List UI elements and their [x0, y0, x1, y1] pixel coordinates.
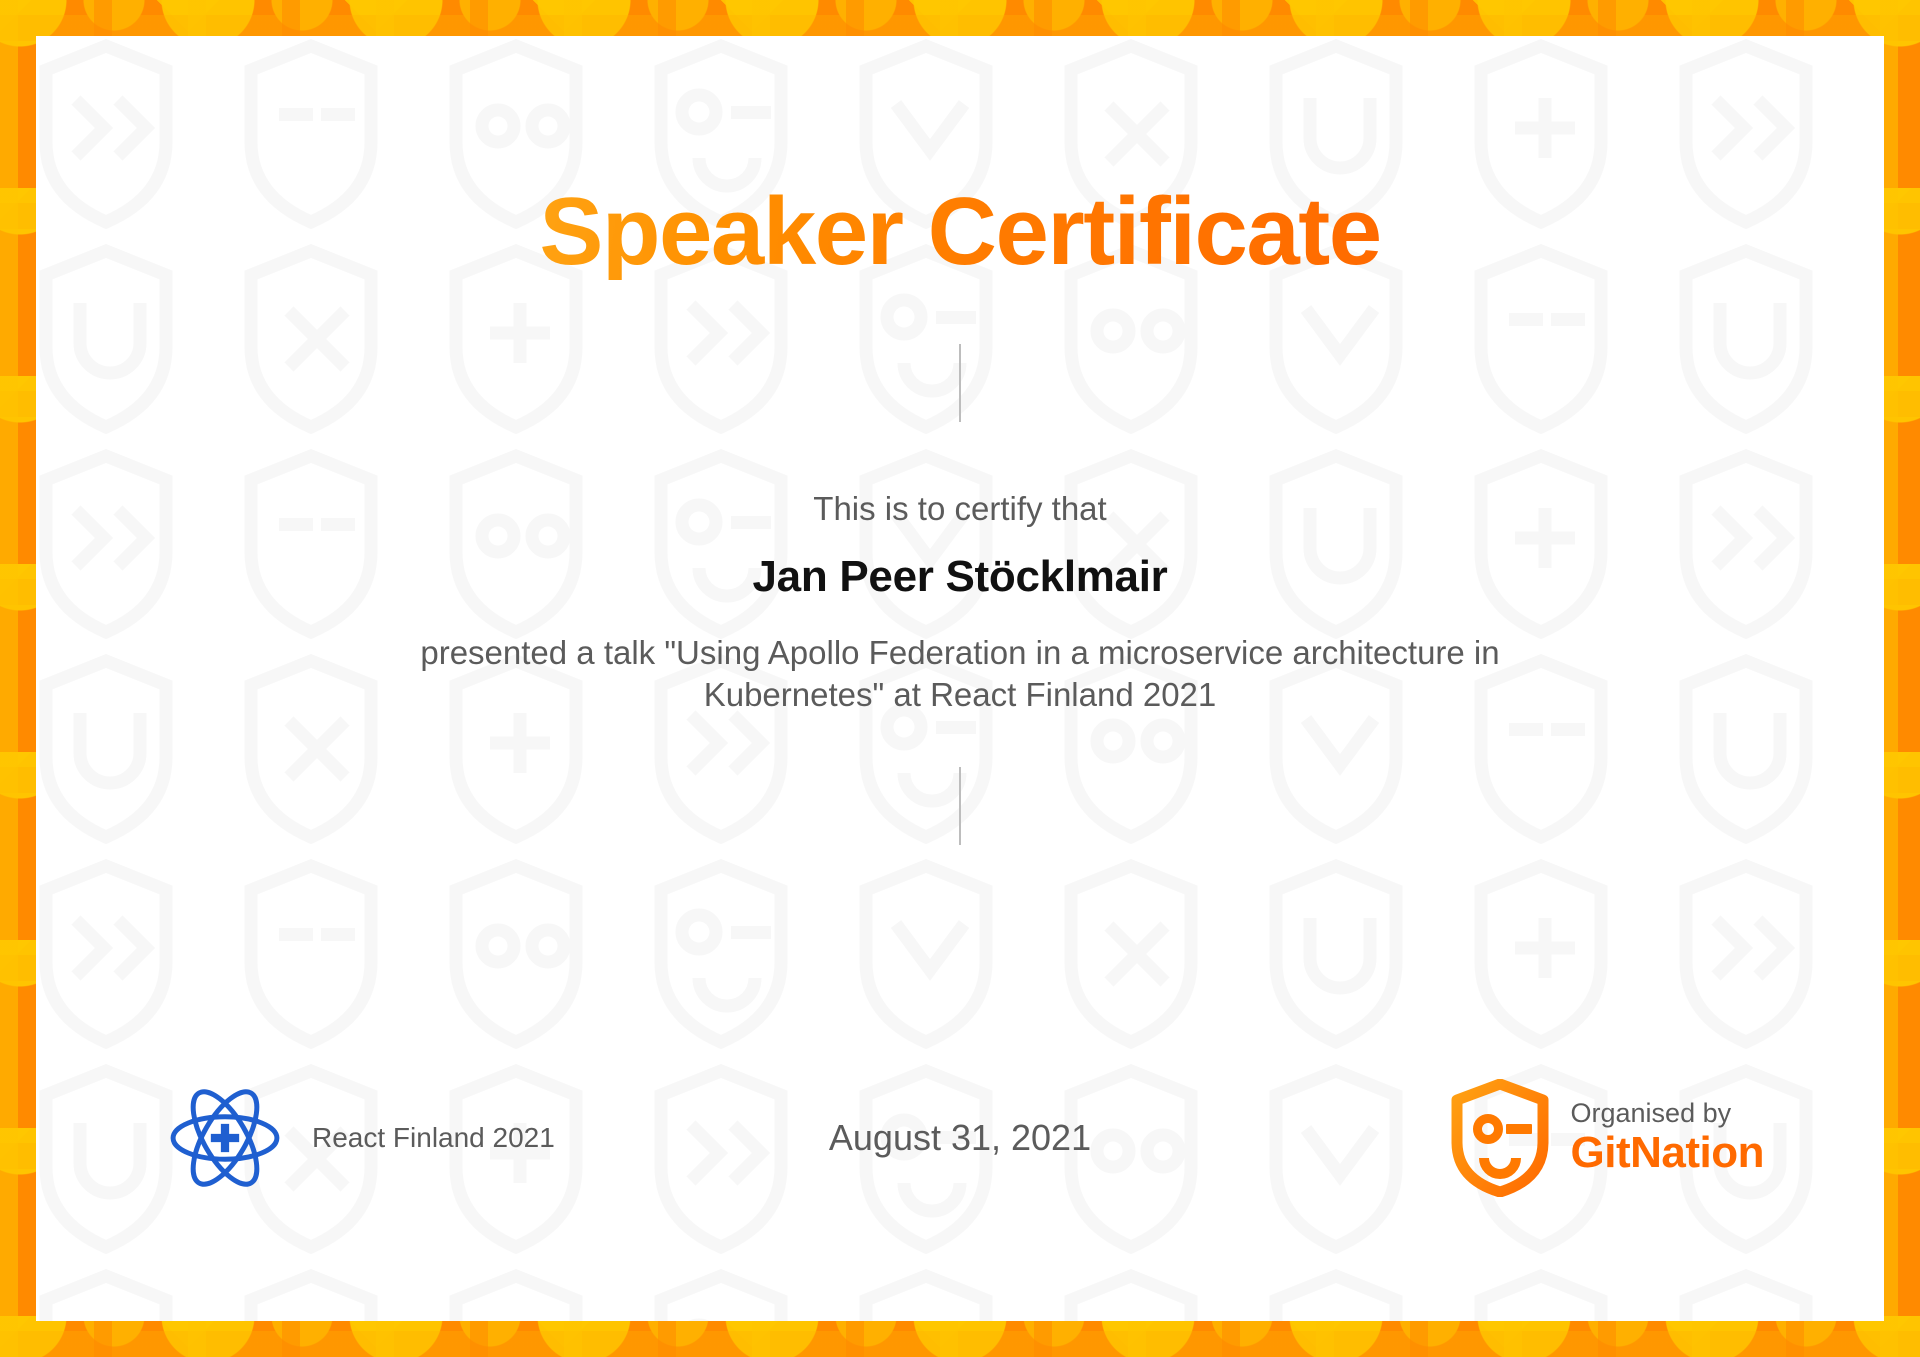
gitnation-shield-icon — [1451, 1079, 1549, 1197]
organised-by-label: Organised by — [1571, 1098, 1764, 1128]
organiser-brand-name: GitNation — [1571, 1128, 1764, 1177]
recipient-name: Jan Peer Stöcklmair — [753, 552, 1168, 602]
divider-bottom — [959, 767, 961, 845]
certificate-date: August 31, 2021 — [829, 1117, 1091, 1159]
footer-event-block: React Finland 2021 — [166, 1079, 555, 1197]
divider-top — [959, 344, 961, 422]
page-title: Speaker Certificate — [539, 184, 1380, 280]
event-name-label: React Finland 2021 — [312, 1122, 555, 1154]
talk-description: presented a talk "Using Apollo Federatio… — [370, 632, 1550, 715]
certificate-card: Speaker Certificate This is to certify t… — [36, 36, 1884, 1321]
react-atom-icon — [166, 1079, 284, 1197]
certificate-footer: React Finland 2021 August 31, 2021 — [36, 1073, 1884, 1203]
certify-line: This is to certify that — [813, 490, 1106, 528]
organiser-text-block: Organised by GitNation — [1571, 1098, 1764, 1178]
speaker-certificate: Speaker Certificate This is to certify t… — [0, 0, 1920, 1357]
footer-organiser-block: Organised by GitNation — [1451, 1079, 1764, 1197]
